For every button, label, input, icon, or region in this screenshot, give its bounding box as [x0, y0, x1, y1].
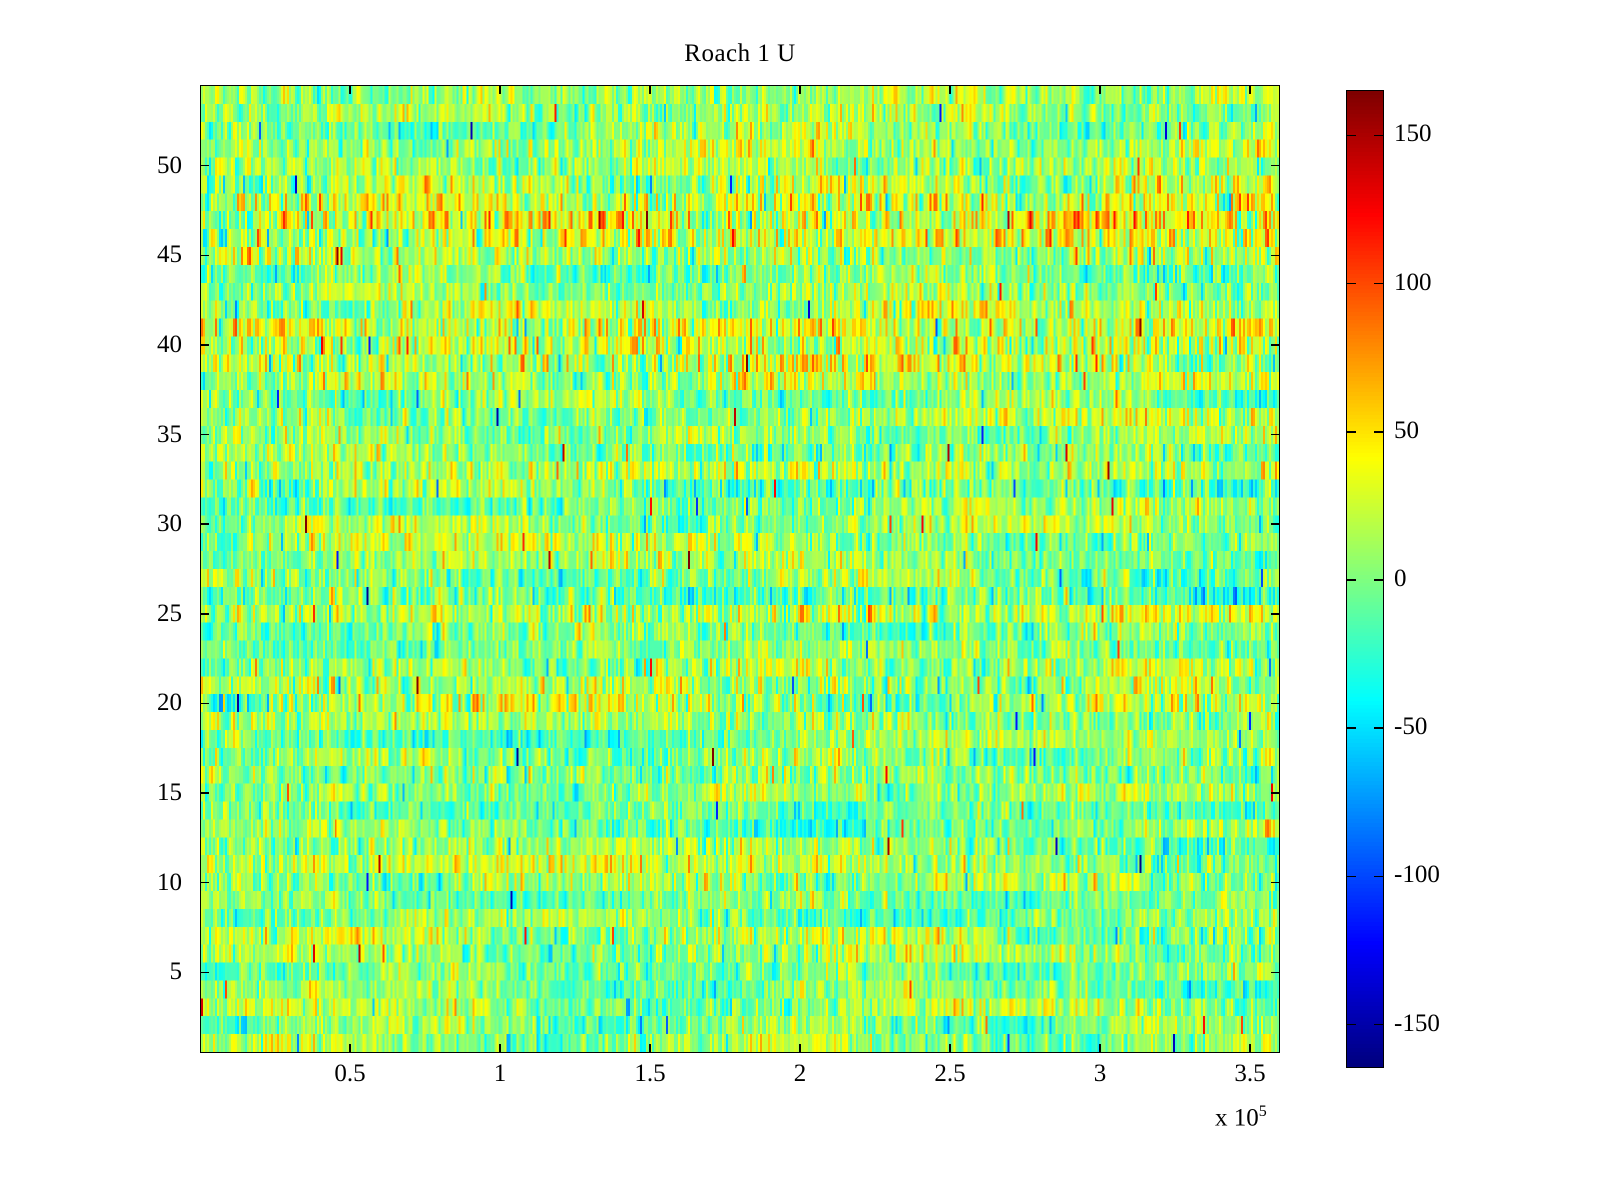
y-axis-tick-label: 45 [120, 241, 182, 269]
colorbar-tick [1347, 135, 1356, 137]
colorbar-tick [1347, 431, 1356, 433]
x-exponent-power: 5 [1259, 1103, 1267, 1120]
colorbar-tick [1347, 579, 1356, 581]
y-axis-tick-right [1271, 613, 1280, 615]
x-exponent-mantissa: x 10 [1215, 1104, 1259, 1131]
y-axis-tick [200, 703, 209, 705]
y-axis-tick-right [1271, 255, 1280, 257]
x-axis-tick-top [349, 85, 351, 94]
y-axis-tick-right [1271, 972, 1280, 974]
colorbar-tick-right [1374, 135, 1383, 137]
x-axis-tick-label: 2.5 [934, 1060, 965, 1088]
y-axis-tick-right [1271, 523, 1280, 525]
colorbar-tick-label: -100 [1394, 861, 1440, 889]
y-axis-tick-label: 40 [120, 331, 182, 359]
colorbar-tick [1347, 283, 1356, 285]
colorbar-tick-right [1374, 1024, 1383, 1026]
x-axis-tick-label: 1 [494, 1060, 507, 1088]
y-axis-tick-label: 5 [120, 958, 182, 986]
y-axis-tick-label: 30 [120, 510, 182, 538]
colorbar-tick-label: 50 [1394, 417, 1419, 445]
y-axis-tick [200, 613, 209, 615]
heatmap-image [201, 86, 1279, 1052]
y-axis-tick-label: 50 [120, 152, 182, 180]
y-axis-tick-label: 35 [120, 421, 182, 449]
colorbar-tick-right [1374, 579, 1383, 581]
colorbar-tick-label: -50 [1394, 713, 1427, 741]
x-axis-tick [1099, 1044, 1101, 1053]
y-axis-tick-label: 20 [120, 689, 182, 717]
x-axis-tick [349, 1044, 351, 1053]
y-axis-tick [200, 344, 209, 346]
y-axis-tick [200, 434, 209, 436]
colorbar-tick-right [1374, 876, 1383, 878]
heatmap-axes[interactable] [200, 85, 1280, 1053]
x-axis-exponent-label: x 105 [1215, 1103, 1267, 1132]
colorbar-tick [1347, 727, 1356, 729]
x-axis-tick-top [649, 85, 651, 94]
x-axis-tick-top [799, 85, 801, 94]
figure-canvas: Roach 1 U 0.511.522.533.5510152025303540… [0, 0, 1600, 1200]
y-axis-tick-label: 10 [120, 869, 182, 897]
y-axis-tick-right [1271, 165, 1280, 167]
x-axis-tick-label: 3.5 [1234, 1060, 1265, 1088]
x-axis-tick-top [949, 85, 951, 94]
y-axis-tick [200, 792, 209, 794]
x-axis-tick [499, 1044, 501, 1053]
colorbar[interactable] [1346, 90, 1384, 1068]
colorbar-tick-label: 150 [1394, 120, 1432, 148]
x-axis-tick-label: 1.5 [634, 1060, 665, 1088]
colorbar-tick-label: 0 [1394, 565, 1407, 593]
x-axis-tick-label: 0.5 [334, 1060, 365, 1088]
colorbar-tick [1347, 1024, 1356, 1026]
x-axis-tick [799, 1044, 801, 1053]
colorbar-tick [1347, 876, 1356, 878]
colorbar-tick-right [1374, 283, 1383, 285]
y-axis-tick [200, 882, 209, 884]
y-axis-tick-right [1271, 882, 1280, 884]
page-title: Roach 1 U [200, 40, 1280, 68]
y-axis-tick-right [1271, 434, 1280, 436]
x-axis-tick [649, 1044, 651, 1053]
x-axis-tick-top [1099, 85, 1101, 94]
y-axis-tick-right [1271, 792, 1280, 794]
x-axis-tick [1249, 1044, 1251, 1053]
colorbar-tick-right [1374, 727, 1383, 729]
colorbar-tick-label: 100 [1394, 269, 1432, 297]
x-axis-tick-top [499, 85, 501, 94]
x-axis-tick-top [1249, 85, 1251, 94]
y-axis-tick-right [1271, 703, 1280, 705]
y-axis-tick-right [1271, 344, 1280, 346]
colorbar-tick-right [1374, 431, 1383, 433]
y-axis-tick-label: 15 [120, 779, 182, 807]
y-axis-tick [200, 255, 209, 257]
y-axis-tick [200, 523, 209, 525]
colorbar-tick-label: -150 [1394, 1010, 1440, 1038]
x-axis-tick-label: 2 [794, 1060, 807, 1088]
x-axis-tick-label: 3 [1094, 1060, 1107, 1088]
y-axis-tick [200, 165, 209, 167]
y-axis-tick [200, 972, 209, 974]
y-axis-tick-label: 25 [120, 600, 182, 628]
x-axis-tick [949, 1044, 951, 1053]
